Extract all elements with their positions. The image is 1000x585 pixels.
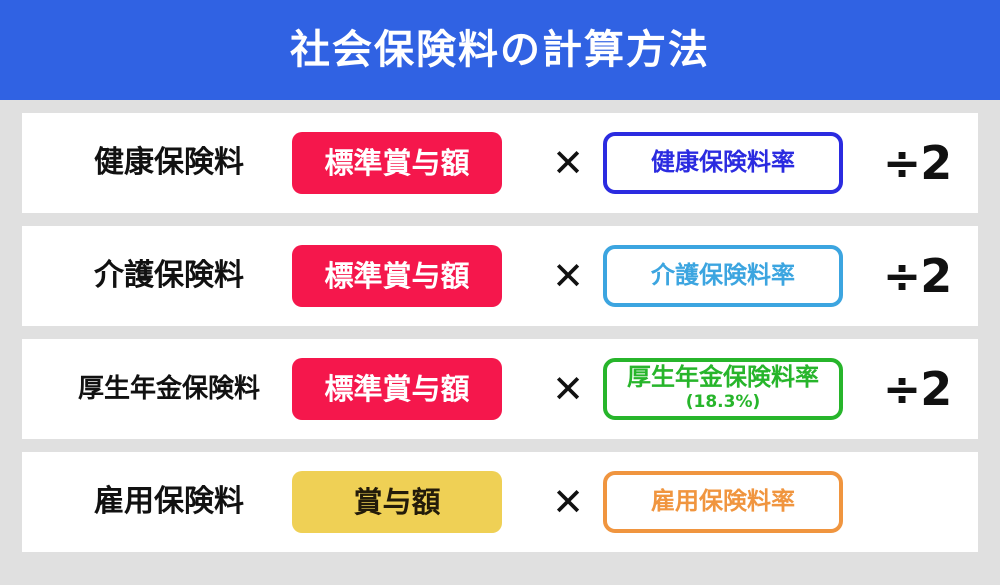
rate-box: 健康保険料率 [603,132,843,194]
rate-percentage-note: (18.3%) [686,392,761,412]
row-label-insurance-type: 介護保険料 [44,261,294,291]
divide-by-two-icon: ÷2 [862,253,972,299]
rate-box: 厚生年金保険料率 (18.3%) [603,358,843,420]
multiply-icon: ✕ [535,483,601,521]
rate-box: 雇用保険料率 [603,471,843,533]
infographic-page: 社会保険料の計算方法 健康保険料 標準賞与額 ✕ 健康保険料率 ÷2 介護保険料… [0,0,1000,585]
rate-box: 介護保険料率 [603,245,843,307]
amount-pill: 賞与額 [292,471,502,533]
row-label-insurance-type: 健康保険料 [44,148,294,178]
amount-pill: 標準賞与額 [292,132,502,194]
divide-by-two-icon: ÷2 [862,366,972,412]
page-title: 社会保険料の計算方法 [290,30,710,70]
divide-by-two-icon: ÷2 [862,140,972,186]
row-label-insurance-type: 厚生年金保険料 [44,376,294,402]
table-row: 雇用保険料 賞与額 ✕ 雇用保険料率 [22,452,978,552]
rate-label: 厚生年金保険料率 [627,365,819,390]
amount-pill: 標準賞与額 [292,245,502,307]
table-row: 健康保険料 標準賞与額 ✕ 健康保険料率 ÷2 [22,113,978,213]
header-banner: 社会保険料の計算方法 [0,0,1000,100]
table-row: 介護保険料 標準賞与額 ✕ 介護保険料率 ÷2 [22,226,978,326]
multiply-icon: ✕ [535,144,601,182]
row-label-insurance-type: 雇用保険料 [44,487,294,517]
multiply-icon: ✕ [535,257,601,295]
multiply-icon: ✕ [535,370,601,408]
table-row: 厚生年金保険料 標準賞与額 ✕ 厚生年金保険料率 (18.3%) ÷2 [22,339,978,439]
rate-label: 雇用保険料率 [651,489,795,514]
rate-label: 健康保険料率 [651,150,795,175]
amount-pill: 標準賞与額 [292,358,502,420]
premium-rows-container: 健康保険料 標準賞与額 ✕ 健康保険料率 ÷2 介護保険料 標準賞与額 ✕ 介護… [0,100,1000,552]
rate-label: 介護保険料率 [651,263,795,288]
